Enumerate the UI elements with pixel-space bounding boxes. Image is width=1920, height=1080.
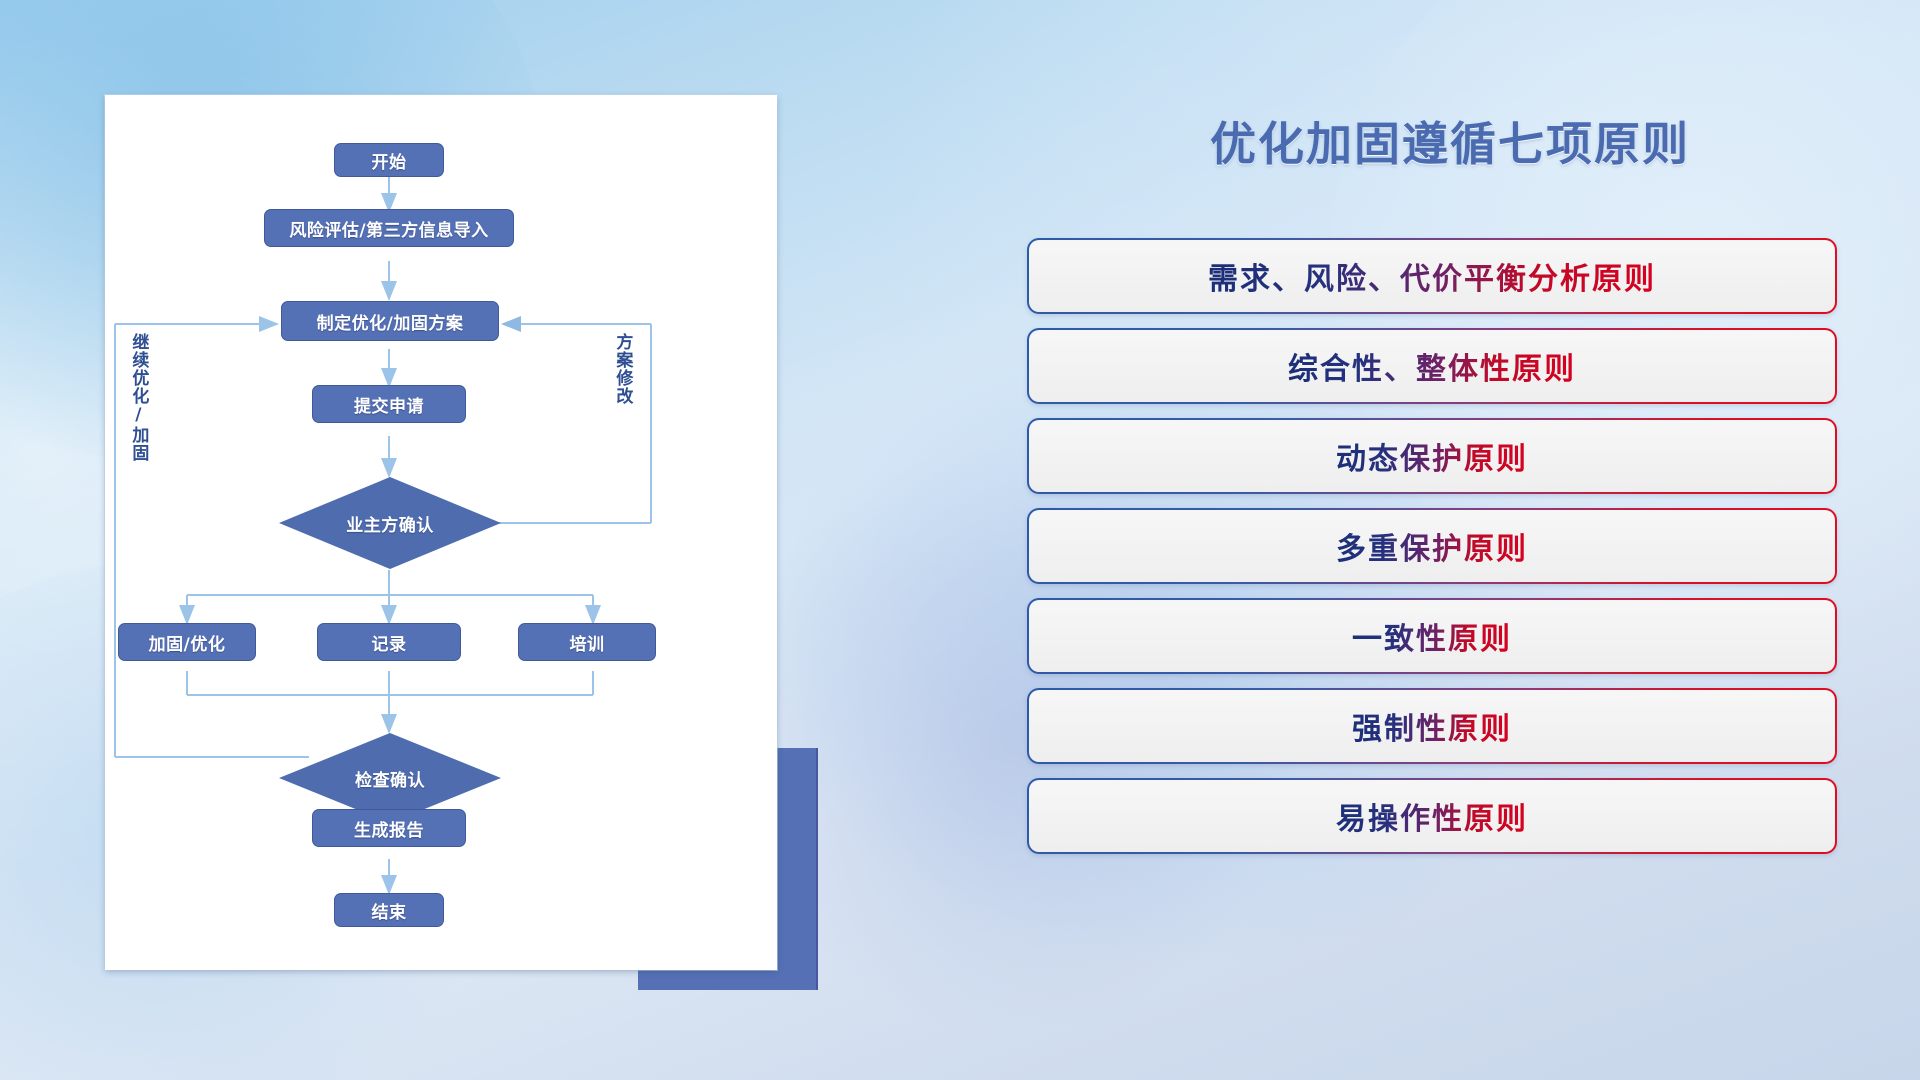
flow-node-reinforce-label: 加固/优化 (149, 630, 226, 655)
principle-card-label: 多重保护原则 (1336, 524, 1528, 568)
flow-node-generate-report-label: 生成报告 (354, 816, 424, 841)
page-title: 优化加固遵循七项原则 (1030, 108, 1870, 174)
flow-node-reinforce[interactable]: 加固/优化 (118, 623, 256, 661)
principle-card[interactable]: 多重保护原则 (1027, 508, 1837, 584)
flowchart-panel: 开始 风险评估/第三方信息导入 制定优化/加固方案 提交申请 业主方确认 加固/… (105, 95, 777, 970)
principle-card-label: 易操作性原则 (1336, 794, 1528, 838)
flow-node-risk-assessment[interactable]: 风险评估/第三方信息导入 (264, 209, 514, 247)
flow-decision-owner-confirm[interactable]: 业主方确认 (279, 477, 501, 569)
flow-node-training-label: 培训 (570, 630, 605, 655)
principle-card-label: 需求、风险、代价平衡分析原则 (1208, 254, 1656, 298)
principle-card-label: 综合性、整体性原则 (1288, 344, 1576, 388)
flow-node-end-label: 结束 (372, 898, 407, 923)
flow-edge-label-continue-optimize: 继续优化/加固 (129, 333, 147, 462)
principle-card[interactable]: 一致性原则 (1027, 598, 1837, 674)
flow-node-submit-application-label: 提交申请 (354, 392, 424, 417)
flow-decision-owner-confirm-label: 业主方确认 (346, 511, 434, 536)
flow-node-plan-label: 制定优化/加固方案 (317, 309, 464, 334)
flow-node-end[interactable]: 结束 (334, 893, 444, 927)
flow-node-start[interactable]: 开始 (334, 143, 444, 177)
flow-node-plan[interactable]: 制定优化/加固方案 (281, 301, 499, 341)
principle-card[interactable]: 动态保护原则 (1027, 418, 1837, 494)
flow-decision-check-confirm-label: 检查确认 (355, 766, 425, 791)
flowchart: 开始 风险评估/第三方信息导入 制定优化/加固方案 提交申请 业主方确认 加固/… (105, 95, 777, 970)
principle-card[interactable]: 易操作性原则 (1027, 778, 1837, 854)
flow-node-risk-assessment-label: 风险评估/第三方信息导入 (289, 216, 488, 241)
principles-list: 需求、风险、代价平衡分析原则 综合性、整体性原则 动态保护原则 多重保护原则 一… (1027, 238, 1837, 854)
slide-canvas: 开始 风险评估/第三方信息导入 制定优化/加固方案 提交申请 业主方确认 加固/… (0, 0, 1920, 1080)
flow-node-submit-application[interactable]: 提交申请 (312, 385, 466, 423)
flow-node-training[interactable]: 培训 (518, 623, 656, 661)
flow-node-start-label: 开始 (372, 148, 407, 173)
flow-node-generate-report[interactable]: 生成报告 (312, 809, 466, 847)
principle-card-label: 动态保护原则 (1336, 434, 1528, 478)
flow-edge-label-plan-revision: 方案修改 (613, 333, 631, 405)
principle-card[interactable]: 综合性、整体性原则 (1027, 328, 1837, 404)
principle-card-label: 强制性原则 (1352, 704, 1512, 748)
principle-card[interactable]: 强制性原则 (1027, 688, 1837, 764)
flow-node-record[interactable]: 记录 (317, 623, 461, 661)
principle-card-label: 一致性原则 (1352, 614, 1512, 658)
flow-node-record-label: 记录 (372, 630, 407, 655)
principle-card[interactable]: 需求、风险、代价平衡分析原则 (1027, 238, 1837, 314)
